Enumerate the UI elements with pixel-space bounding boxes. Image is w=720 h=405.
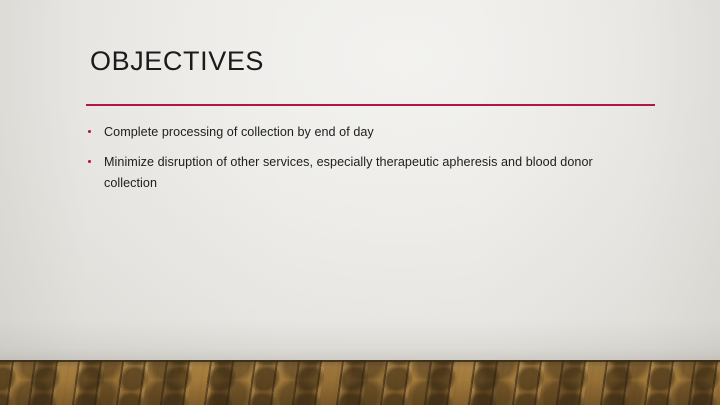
slide-body-content: Complete processing of collection by end… [86,122,646,203]
slide-title: OBJECTIVES [90,45,264,77]
wall-floor-shadow [0,320,720,360]
bullet-dot-icon [88,130,91,133]
title-divider-rule [86,104,655,106]
bullet-text: Minimize disruption of other services, e… [104,155,593,190]
list-item: Complete processing of collection by end… [86,122,646,143]
floor-edge-line [0,360,720,362]
list-item: Minimize disruption of other services, e… [86,152,646,194]
bullet-dot-icon [88,160,91,163]
wooden-floor-graphic [0,360,720,405]
bullet-text: Complete processing of collection by end… [104,125,374,139]
floor-shading [0,360,720,405]
presentation-slide: OBJECTIVES Complete processing of collec… [0,0,720,405]
